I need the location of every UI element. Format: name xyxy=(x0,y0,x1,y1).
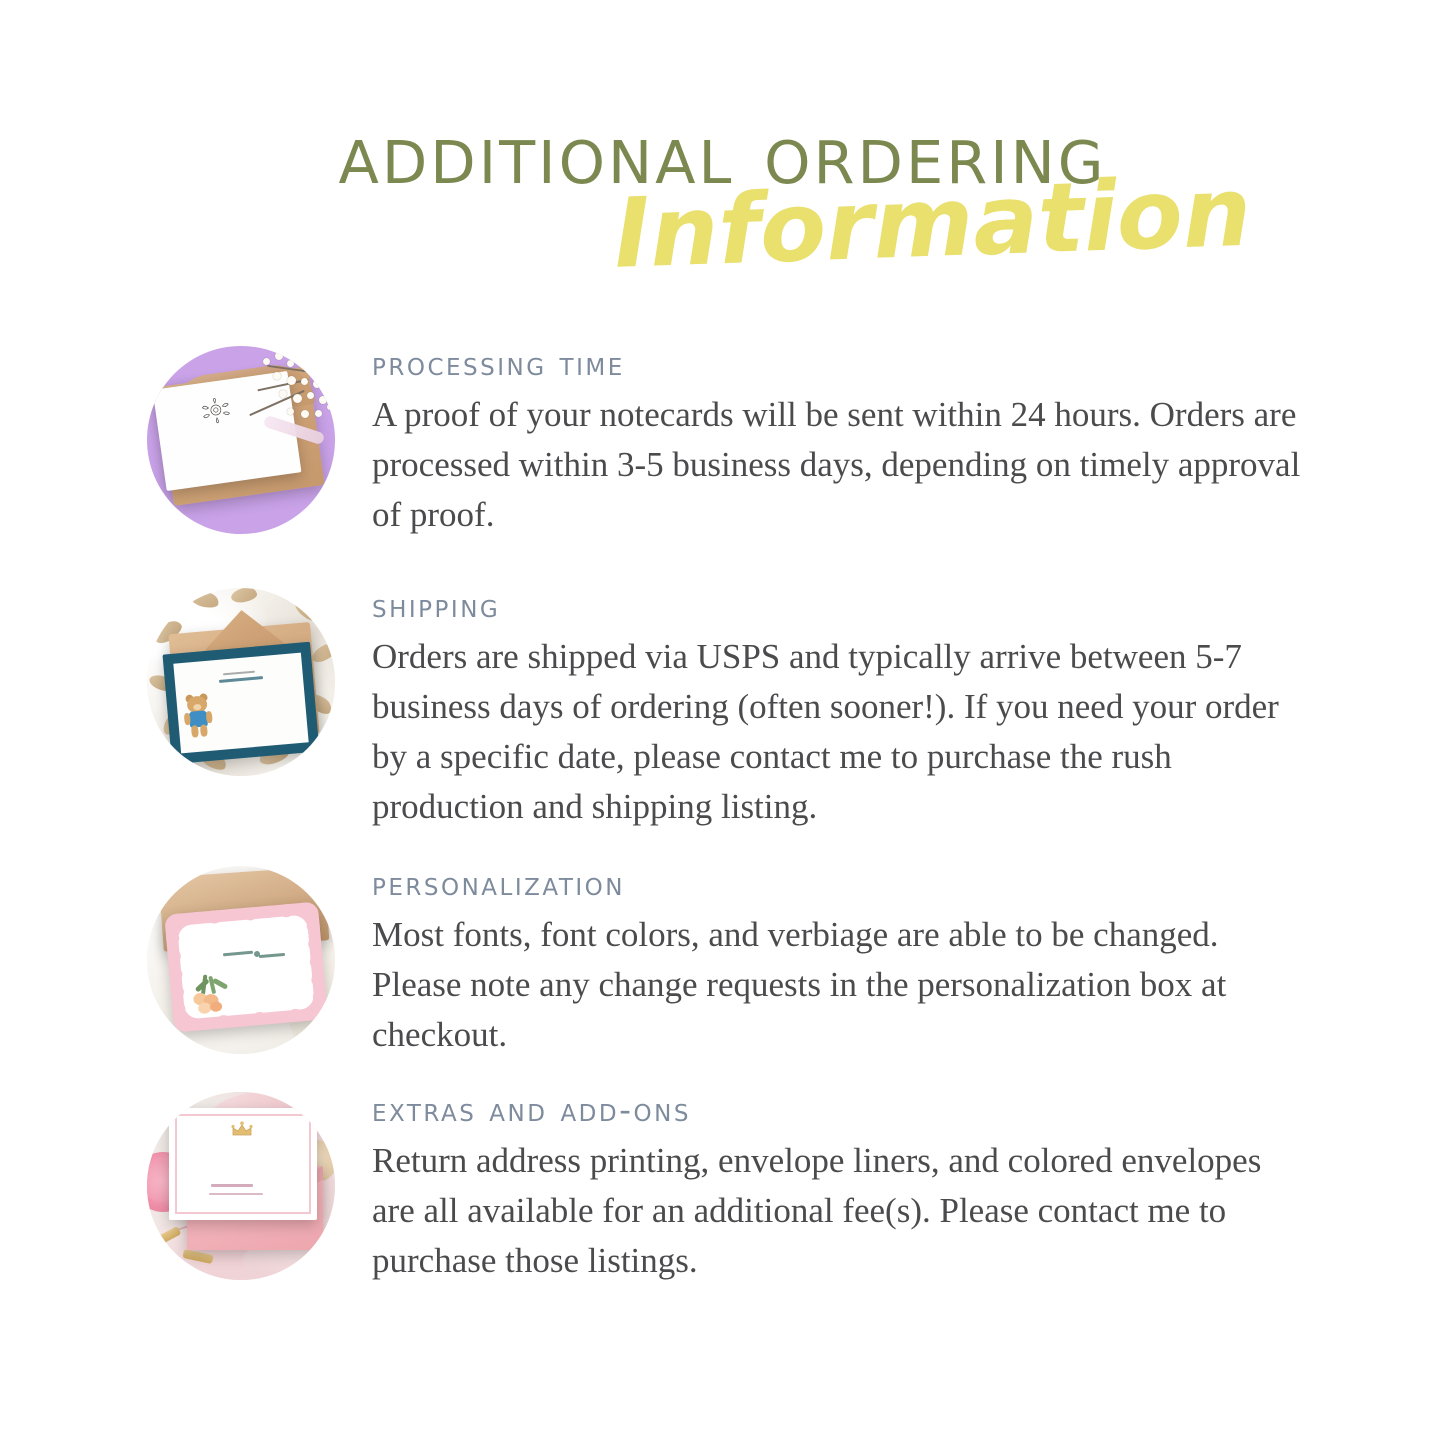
section-heading-shipping: Shipping xyxy=(372,588,1302,624)
section-body-processing-time: A proof of your notecards will be sent w… xyxy=(372,390,1302,540)
gold-crown-motif-icon xyxy=(229,1120,255,1140)
pink-scallop-notecard-photo xyxy=(147,866,335,1054)
section-body-shipping: Orders are shipped via USPS and typicall… xyxy=(372,632,1302,832)
lavender-notecard-photo xyxy=(147,346,335,534)
section-heading-extras-and-addons: Extras and Add-Ons xyxy=(372,1092,1302,1128)
section-heading-processing-time: Processing Time xyxy=(372,346,1302,382)
section-text-personalization: Personalization Most fonts, font colors,… xyxy=(372,866,1302,1060)
teddy-bear-illustration xyxy=(181,691,217,740)
pink-envelope-notecard-photo xyxy=(147,1092,335,1280)
section-heading-personalization: Personalization xyxy=(372,866,1302,902)
section-text-extras: Extras and Add-Ons Return address printi… xyxy=(372,1092,1302,1286)
section-body-personalization: Most fonts, font colors, and verbiage ar… xyxy=(372,910,1302,1060)
floral-sprig-illustration xyxy=(185,972,238,1016)
section-text-shipping: Shipping Orders are shipped via USPS and… xyxy=(372,588,1302,832)
page-title-block: Additional Ordering Information xyxy=(0,112,1445,302)
section-text-processing: Processing Time A proof of your notecard… xyxy=(372,346,1302,540)
section-body-extras-and-addons: Return address printing, envelope liners… xyxy=(372,1136,1302,1286)
teddy-bear-notecard-photo xyxy=(147,588,335,776)
ordering-information-graphic: Additional Ordering Information xyxy=(0,0,1445,1445)
monogram-crest-icon xyxy=(197,396,234,426)
